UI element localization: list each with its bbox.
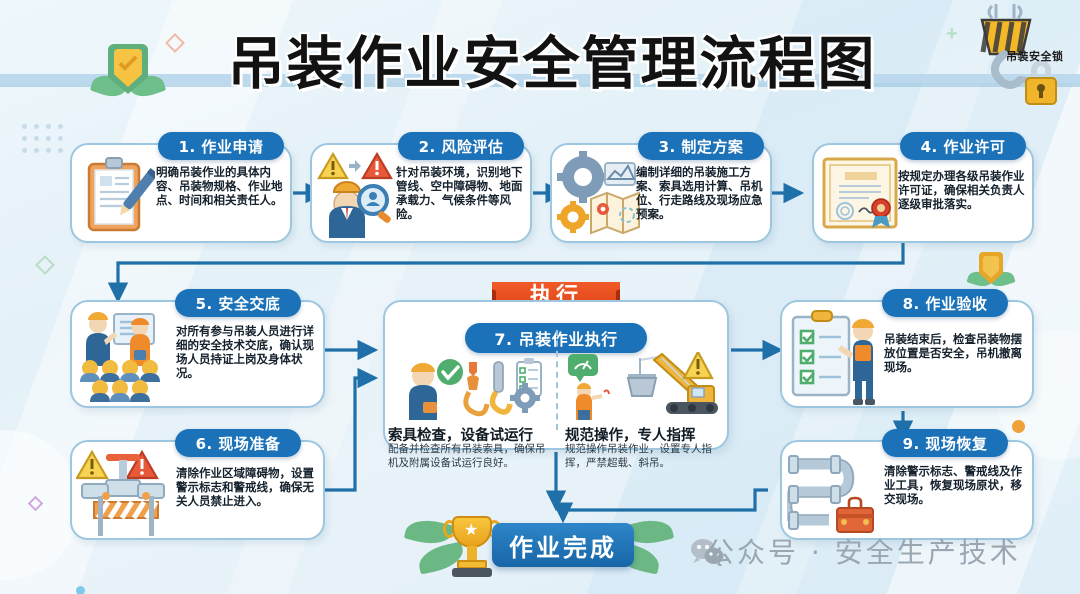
step-badge-6: 6. 现场准备 [175,429,301,457]
step-desc-4: 按规定办理各级吊装作业许可证，确保相关负责人逐级审批落实。 [898,169,1032,211]
dot-decor [76,586,85,594]
execution-divider [556,330,558,430]
page-title: 吊装作业安全管理流程图 [196,18,908,100]
barricade-warning-valve-icon [76,446,176,538]
diamond-decor [35,255,55,275]
header: 吊装作业安全管理流程图 吊装安全锁 [0,0,1080,118]
step-desc-9: 清除警示标志、警戒线及作业工具，恢复现场原状，移交现场。 [884,464,1026,506]
step-card-8[interactable]: 8. 作业验收 吊装结束后，检查吊装物摆放位置是否安全，吊机撤离现场。 [780,300,1034,408]
pipe-toolbox-icon [787,450,885,536]
step-card-2[interactable]: 2. 风险评估 针对吊装环境，识别地下管线、空中障碍物、地面承载力、气候条件等风… [310,143,532,243]
clipboard-pen-icon [79,154,155,236]
checklist-inspector-icon [787,307,885,405]
step-desc-6: 清除作业区域障碍物，设置警示标志和警戒线，确保无关人员禁止进入。 [176,466,322,508]
step-desc-2: 针对吊装环境，识别地下管线、空中障碍物、地面承载力、气候条件等风险。 [396,165,528,221]
step-desc-3: 编制详细的吊装施工方案、索具选用计算、吊机位、行走路线及现场应急预案。 [636,165,768,221]
step-badge-8: 8. 作业验收 [882,289,1008,317]
dot-decor [1012,420,1025,433]
step-card-1[interactable]: 1. 作业申请 明确吊装作业的具体内容、吊装物规格、作业地点、时间和相关责任人。 [70,143,292,243]
exec-left-heading: 索具检查，设备试运行 [388,424,533,445]
finish-banner: 作业完成 [492,523,634,567]
gears-map-icon [557,151,641,237]
step-desc-1: 明确吊装作业的具体内容、吊装物规格、作业地点、时间和相关责任人。 [156,165,286,207]
step-card-9[interactable]: 9. 现场恢复 清除警示标志、警戒线及作业工具，恢复现场原状，移交现场。 [780,440,1034,540]
step-badge-4: 4. 作业许可 [900,132,1026,160]
dot-grid-decor [22,124,63,153]
step-badge-9: 9. 现场恢复 [882,429,1008,457]
step-card-3[interactable]: 3. 制定方案 编制详细的吊装施工方案、索具选用计算、吊机位、行走路线及现场应急… [550,143,772,243]
exec-left-desc: 配备并检查所有吊装索具，确保吊机及附属设备试运行良好。 [388,443,548,470]
hook-lock-label: 吊装安全锁 [1006,48,1080,64]
step-badge-1: 1. 作业申请 [158,132,284,160]
worker-rigging-hook-checklist-icon [393,358,549,420]
step-desc-8: 吊装结束后，检查吊装物摆放位置是否安全，吊机撤离现场。 [884,332,1024,374]
watermark-text: 公众号 · 安全生产技术 [706,531,1021,571]
step-badge-5: 5. 安全交底 [175,289,301,317]
step-card-4[interactable]: 4. 作业许可 按规定办理各级吊装作业许可证，确保相关负责人逐级审批落实。 [812,143,1034,243]
shield-check-icon [92,42,164,106]
inspector-magnifier-warning-icon [317,150,399,238]
shield-badge-icon [968,252,1014,292]
step-badge-3: 3. 制定方案 [638,132,764,160]
step-badge-2: 2. 风险评估 [398,132,524,160]
step-card-6[interactable]: 6. 现场准备 清除作业区域障碍物，设置警示标志和警戒线，确保无关人员禁止进入。 [70,440,325,540]
step-card-5[interactable]: 5. 安全交底 对所有参与吊装人员进行详细的安全技术交底，确认现场人员持证上岗及… [70,300,325,408]
crane-lifting-load-signalman-icon [566,352,722,420]
step-desc-5: 对所有参与吊装人员进行详细的安全技术交底，确认现场人员持证上岗及身体状况。 [176,324,322,380]
exec-right-desc: 规范操作吊装作业，设置专人指挥，严禁超载、斜吊。 [565,443,723,470]
exec-right-heading: 规范操作，专人指挥 [565,424,696,445]
certificate-seal-icon [821,156,899,232]
safety-briefing-crowd-icon [76,306,176,406]
